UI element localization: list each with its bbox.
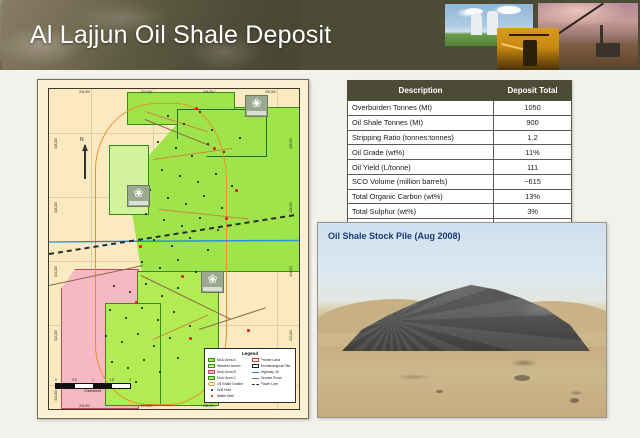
north-arrow-icon: N: [77, 137, 93, 183]
deposit-summary-table-panel: Description Deposit Total Overburden Ton…: [347, 80, 572, 234]
ground-debris: [436, 390, 443, 393]
cloud-shape: [497, 6, 521, 14]
deposit-map-panel[interactable]: ❀ ❀ ❀ N 206,000 207,000 208,000 209,000: [37, 79, 309, 419]
map-y-tick: 406,000: [289, 202, 293, 213]
legend-label: Drill Hole: [217, 388, 231, 392]
scale-tick: 1.5: [109, 378, 114, 382]
logo-label-bar: [247, 111, 266, 115]
slide-canvas: Al Lajjun Oil Shale Deposit: [0, 0, 640, 438]
legend-item[interactable]: Power Line: [252, 381, 293, 387]
column-header-description: Description: [348, 81, 494, 101]
cell-value: 1.2: [494, 130, 572, 145]
legend-label: Oil Shale Outline: [217, 382, 243, 386]
legend-swatch-drill-hole: [208, 388, 215, 392]
map-logo-marker: ❀: [201, 271, 224, 293]
legend-label: Highway 40: [261, 370, 279, 374]
table-row: Total Sulphur (wt%)3%: [348, 204, 572, 219]
cell-description: Oil Yield (L/tonne): [348, 160, 494, 175]
legend-swatch-oil-shale-outline: [208, 382, 215, 386]
compass-north-label: N: [80, 137, 84, 143]
logo-label-bar: [203, 287, 222, 291]
cell-description: Total Sulphur (wt%): [348, 204, 494, 219]
legend-swatch-mou-area-c: [208, 376, 215, 380]
ground-debris: [514, 375, 530, 381]
cell-value: ~615: [494, 174, 572, 189]
map-y-tick: 408,000: [289, 138, 293, 149]
cooling-tower-icon: [471, 14, 482, 35]
legend-swatch-highway: [252, 372, 259, 373]
scale-bar-graphic: [55, 383, 131, 389]
rig-frame-shape: [509, 34, 549, 36]
legend-label: Western Annex: [217, 364, 241, 368]
legend-item[interactable]: Water Well: [208, 393, 249, 399]
flower-logo-icon: ❀: [205, 273, 220, 285]
header-banner: Al Lajjun Oil Shale Deposit: [0, 0, 640, 70]
compass-needle: [84, 145, 86, 179]
rig-body-shape: [523, 40, 537, 66]
table-header-row: Description Deposit Total: [348, 81, 572, 101]
map-x-tick: 208,000: [203, 90, 214, 94]
table-body: Overburden Tonnes (Mt)1050 Oil Shale Ton…: [348, 101, 572, 234]
legend-label: MoU Area B: [217, 370, 236, 374]
map-y-tick: 406,000: [54, 202, 58, 213]
logo-label-bar: [129, 201, 148, 205]
map-legend[interactable]: Legend MoU Area A Western Annex MoU Area…: [204, 348, 296, 404]
ground-debris: [570, 398, 579, 403]
legend-swatch-western-annex: [208, 364, 215, 368]
column-header-deposit-total: Deposit Total: [494, 81, 572, 101]
scale-tick: 1: [92, 378, 94, 382]
legend-swatch-mou-area-a: [208, 358, 215, 362]
crane-boom-shape: [551, 3, 604, 39]
legend-column-right: Private Land Archaeological Site Highway…: [252, 357, 293, 399]
cell-description: Total Organic Carbon (wt%): [348, 189, 494, 204]
legend-label: MoU Area C: [217, 376, 236, 380]
table-row: Stripping Ratio (tonnes:tonnes)1.2: [348, 130, 572, 145]
crane-body-shape: [596, 43, 620, 57]
legend-swatch-private-land: [252, 358, 259, 362]
legend-label: Water Well: [217, 394, 234, 398]
flower-logo-icon: ❀: [131, 187, 146, 199]
legend-swatch-archaeological-site: [252, 364, 259, 368]
map-y-tick: 408,000: [54, 138, 58, 149]
cell-description: SCO Volume (million barrels): [348, 174, 494, 189]
cell-value: 3%: [494, 204, 572, 219]
deposit-summary-table: Description Deposit Total Overburden Ton…: [347, 80, 572, 234]
cell-value: 11%: [494, 145, 572, 160]
scale-tick: 2: [129, 378, 131, 382]
map-x-tick: 207,000: [141, 404, 152, 408]
scale-units-label: Kilometres: [55, 389, 131, 393]
map-x-tick: 206,000: [79, 90, 90, 94]
flower-logo-icon: ❀: [249, 97, 264, 109]
scale-tick: 0: [55, 378, 57, 382]
map-canvas[interactable]: ❀ ❀ ❀ N 206,000 207,000 208,000 209,000: [48, 88, 300, 410]
map-x-tick: 206,000: [79, 404, 90, 408]
desert-ground: [318, 347, 607, 417]
map-y-tick: 402,000: [54, 330, 58, 341]
legend-swatch-service-road: [252, 378, 259, 379]
page-title: Al Lajjun Oil Shale Deposit: [30, 20, 331, 50]
legend-label: Private Land: [261, 358, 281, 362]
cell-value: 111: [494, 160, 572, 175]
cell-value: 900: [494, 115, 572, 130]
map-logo-marker: ❀: [127, 185, 150, 207]
legend-label: MoU Area A: [217, 358, 236, 362]
map-x-tick: 207,000: [141, 90, 152, 94]
map-x-tick: 209,000: [265, 90, 276, 94]
map-y-tick: 404,000: [289, 266, 293, 277]
map-y-tick: 402,000: [289, 330, 293, 341]
oil-shale-retort-yellow-image: [497, 28, 559, 70]
cell-description: Stripping Ratio (tonnes:tonnes): [348, 130, 494, 145]
table-row: Total Organic Carbon (wt%)13%: [348, 189, 572, 204]
cell-description: Overburden Tonnes (Mt): [348, 101, 494, 116]
map-y-tick: 404,000: [54, 266, 58, 277]
table-row: SCO Volume (million barrels)~615: [348, 174, 572, 189]
table-row: Oil Yield (L/tonne)111: [348, 160, 572, 175]
legend-column-left: MoU Area A Western Annex MoU Area B MoU …: [208, 357, 249, 399]
table-row: Oil Shale Tonnes (Mt)900: [348, 115, 572, 130]
legend-label: Service Road: [261, 376, 282, 380]
cell-value: 13%: [494, 189, 572, 204]
map-x-tick: 208,000: [203, 404, 214, 408]
cell-value: 1050: [494, 101, 572, 116]
scale-tick: 0.5: [72, 378, 77, 382]
legend-swatch-power-line: [252, 384, 259, 385]
scale-tick-row: 0 0.5 1 1.5 2: [55, 378, 131, 382]
photo-caption: Oil Shale Stock Pile (Aug 2008): [328, 231, 461, 241]
map-logo-marker: ❀: [245, 95, 268, 117]
cell-description: Oil Grade (wt%): [348, 145, 494, 160]
table-row: Overburden Tonnes (Mt)1050: [348, 101, 572, 116]
legend-label: Archaeological Site: [261, 364, 291, 368]
table-row: Oil Grade (wt%)11%: [348, 145, 572, 160]
legend-title: Legend: [208, 351, 292, 356]
stockpile-photo-panel: Oil Shale Stock Pile (Aug 2008): [317, 222, 607, 418]
legend-label: Power Line: [261, 382, 279, 386]
legend-swatch-water-well: [208, 394, 215, 398]
cell-description: Oil Shale Tonnes (Mt): [348, 115, 494, 130]
legend-swatch-mou-area-b: [208, 370, 215, 374]
map-scale-bar: 0 0.5 1 1.5 2 Kilometres: [55, 378, 131, 393]
